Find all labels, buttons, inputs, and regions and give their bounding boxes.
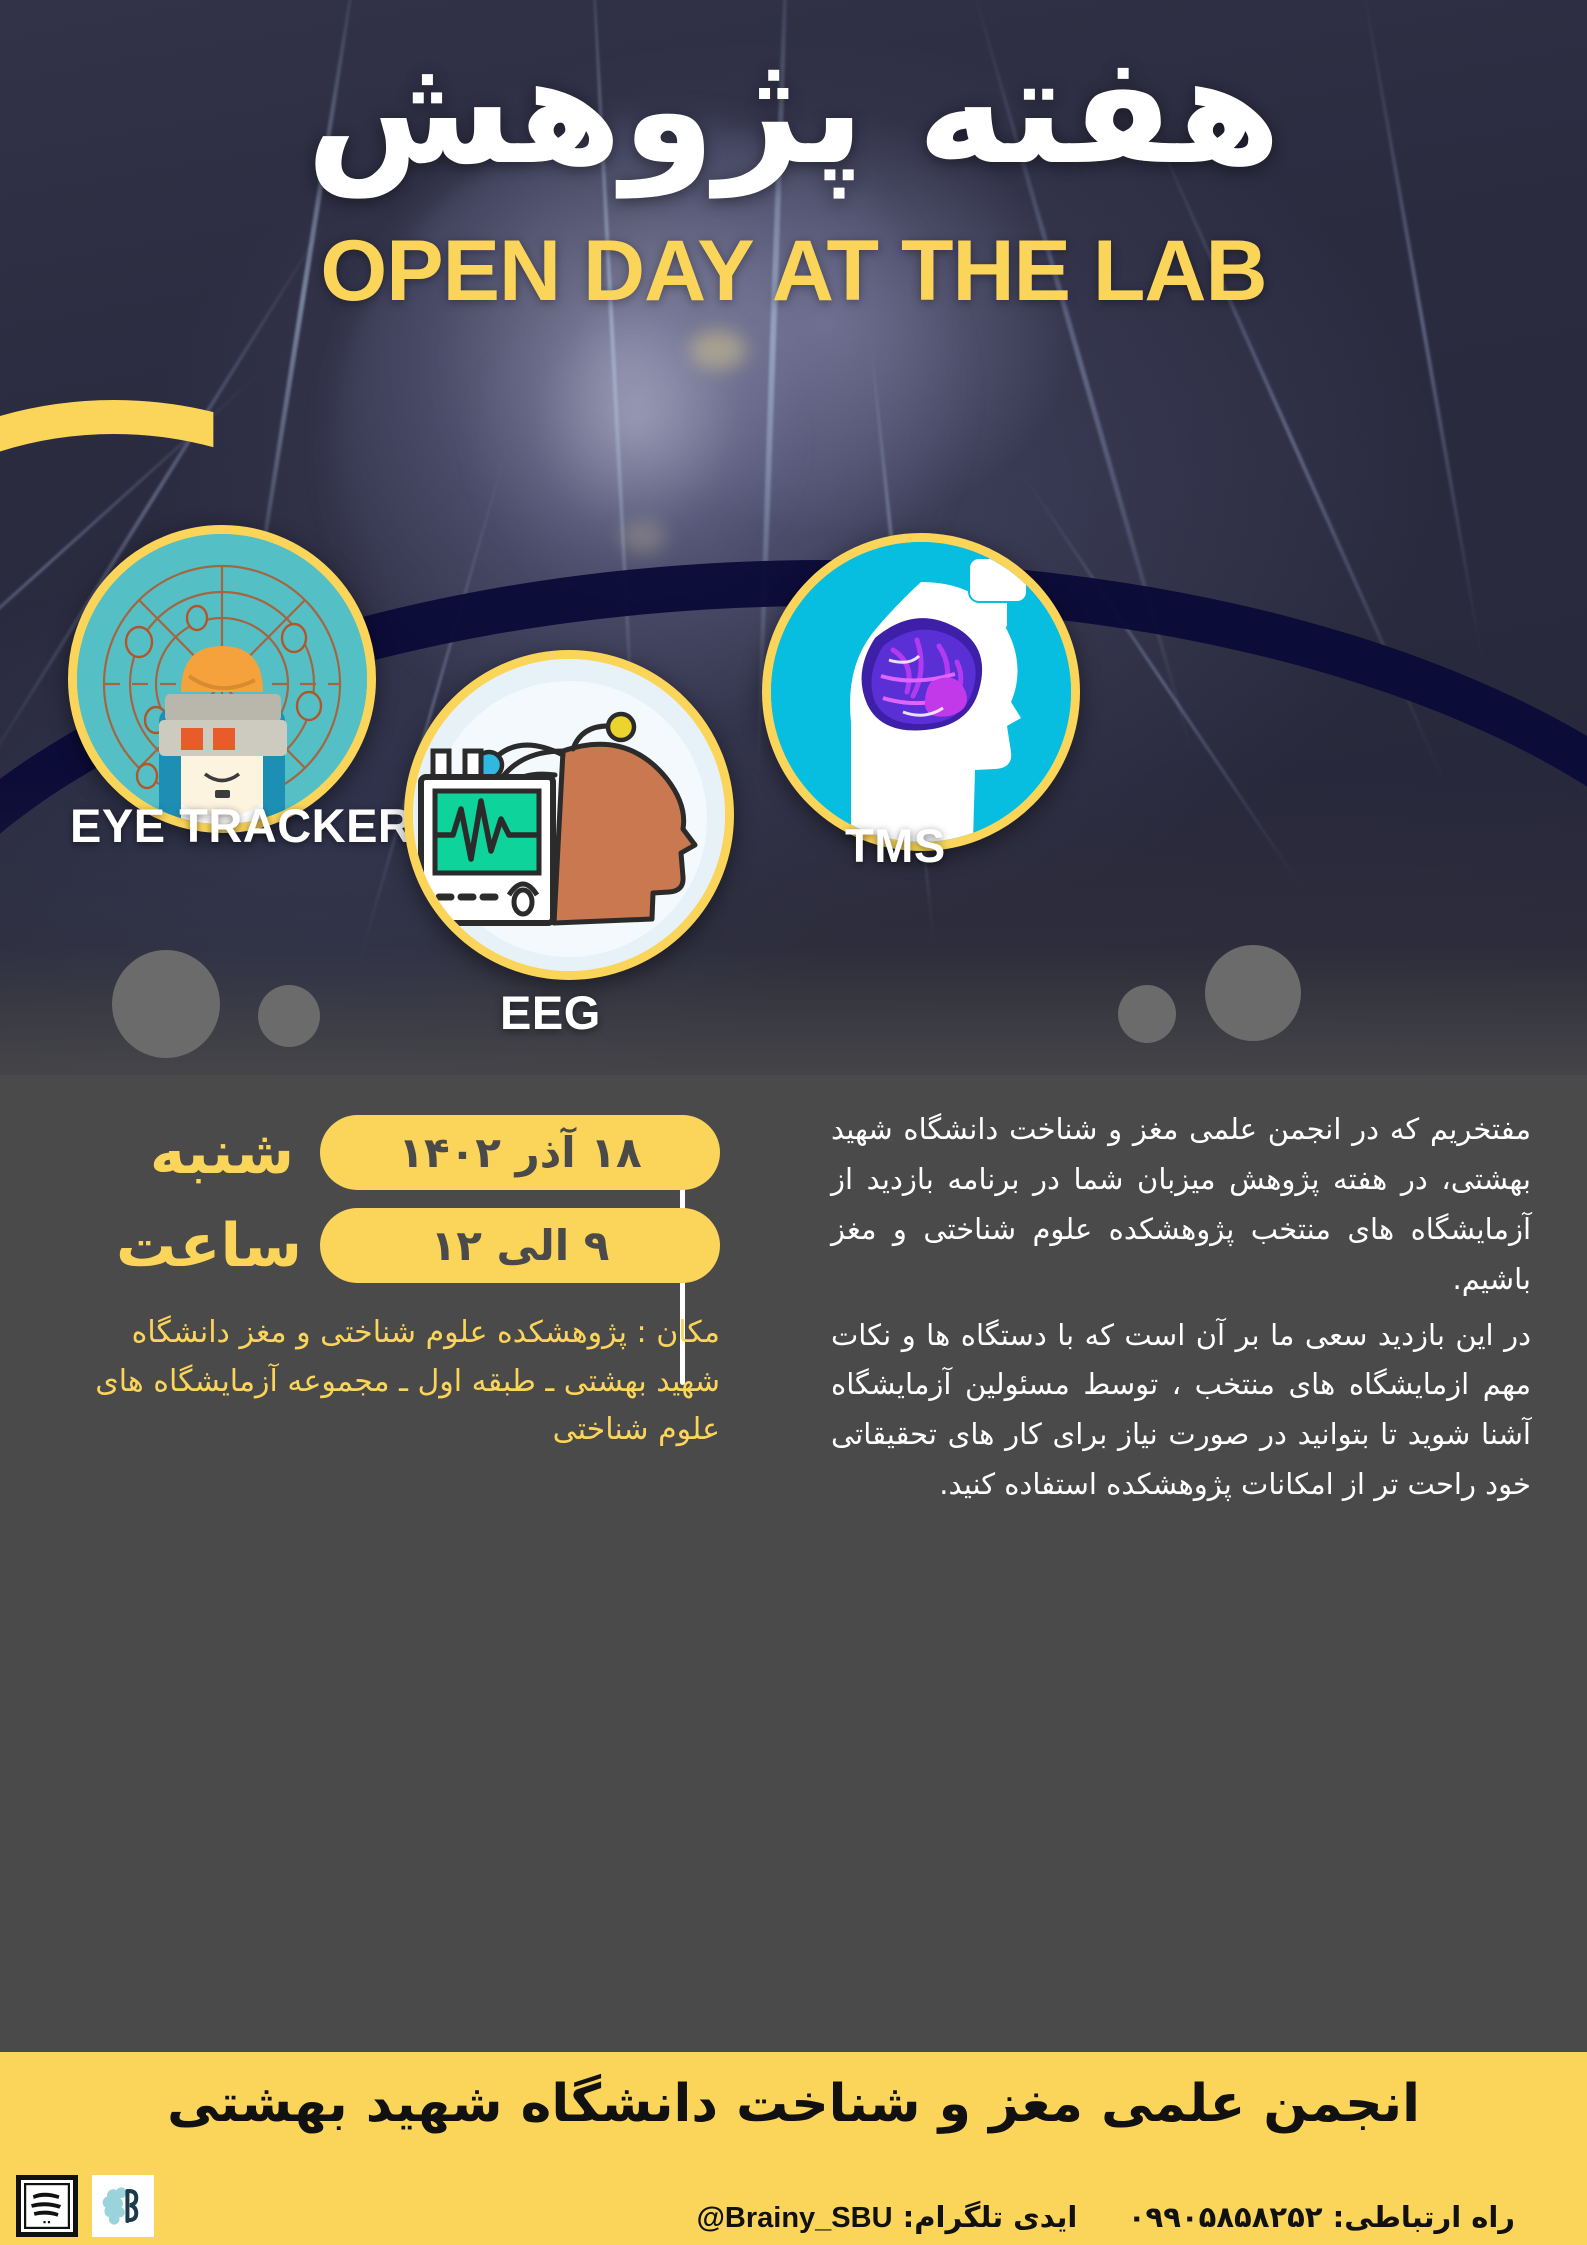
poster-root: هفته پژوهش OPEN DAY AT THE LAB bbox=[0, 0, 1587, 2245]
eeg-icon bbox=[413, 659, 725, 971]
day-label: شنبه bbox=[142, 1118, 302, 1188]
device-circle-eye-tracker[interactable] bbox=[68, 525, 376, 833]
sbu-logo-icon bbox=[24, 2183, 70, 2229]
poster-title-english: OPEN DAY AT THE LAB bbox=[0, 222, 1587, 321]
bokeh-circle bbox=[258, 985, 320, 1047]
contact-label: راه ارتباطی: bbox=[1333, 2200, 1515, 2234]
day-value-pill: ۱۸ آذر ۱۴۰۲ bbox=[320, 1115, 720, 1190]
neuron-core-shape bbox=[470, 300, 800, 600]
schedule-row-day: ۱۸ آذر ۱۴۰۲ شنبه bbox=[60, 1115, 720, 1190]
contact-phone: ۰۹۹۰۵۸۵۸۲۵۲ bbox=[1128, 2200, 1323, 2234]
contact-line: راه ارتباطی: ۰۹۹۰۵۸۵۸۲۵۲ ایدی تلگرام: @B… bbox=[697, 2200, 1515, 2235]
bokeh-circle bbox=[1118, 985, 1176, 1043]
time-label: ساعت bbox=[142, 1211, 302, 1281]
footer-bar: انجمن علمی مغز و شناخت دانشگاه شهید بهشت… bbox=[0, 2052, 1587, 2245]
tms-icon bbox=[771, 542, 1071, 842]
brain-association-logo bbox=[92, 2175, 154, 2237]
shahid-beheshti-university-logo bbox=[16, 2175, 78, 2237]
schedule-block: ۱۸ آذر ۱۴۰۲ شنبه ۹ الی ۱۲ ساعت مکان : پژ… bbox=[60, 1115, 720, 1455]
schedule-row-time: ۹ الی ۱۲ ساعت bbox=[60, 1208, 720, 1283]
device-circle-eeg[interactable] bbox=[404, 650, 734, 980]
description-paragraph-2: در این بازدید سعی ما بر آن است که با دست… bbox=[831, 1311, 1531, 1511]
organization-title: انجمن علمی مغز و شناخت دانشگاه شهید بهشت… bbox=[0, 2074, 1587, 2134]
telegram-handle[interactable]: @Brainy_SBU bbox=[697, 2202, 893, 2235]
venue-text: مکان : پژوهشکده علوم شناختی و مغز دانشگا… bbox=[80, 1309, 720, 1455]
device-label-eeg: EEG bbox=[500, 985, 601, 1040]
description-block: مفتخریم که در انجمن علمی مغز و شناخت دان… bbox=[831, 1105, 1531, 1516]
neuron-glow bbox=[690, 330, 746, 370]
device-label-eye-tracker: EYE TRACKER bbox=[70, 798, 412, 853]
eye-tracker-icon bbox=[77, 534, 367, 824]
bokeh-circle bbox=[1205, 945, 1301, 1041]
device-label-tms: TMS bbox=[845, 818, 946, 873]
poster-title-persian: هفته پژوهش bbox=[0, 18, 1587, 206]
telegram-label: ایدی تلگرام: bbox=[903, 2200, 1078, 2234]
brain-logo-icon bbox=[100, 2183, 146, 2229]
time-value-pill: ۹ الی ۱۲ bbox=[320, 1208, 720, 1283]
device-circle-tms[interactable] bbox=[762, 533, 1080, 851]
bokeh-circle bbox=[112, 950, 220, 1058]
info-section: مفتخریم که در انجمن علمی مغز و شناخت دان… bbox=[0, 1075, 1587, 2050]
description-paragraph-1: مفتخریم که در انجمن علمی مغز و شناخت دان… bbox=[831, 1105, 1531, 1305]
neuron-glow bbox=[620, 520, 666, 554]
